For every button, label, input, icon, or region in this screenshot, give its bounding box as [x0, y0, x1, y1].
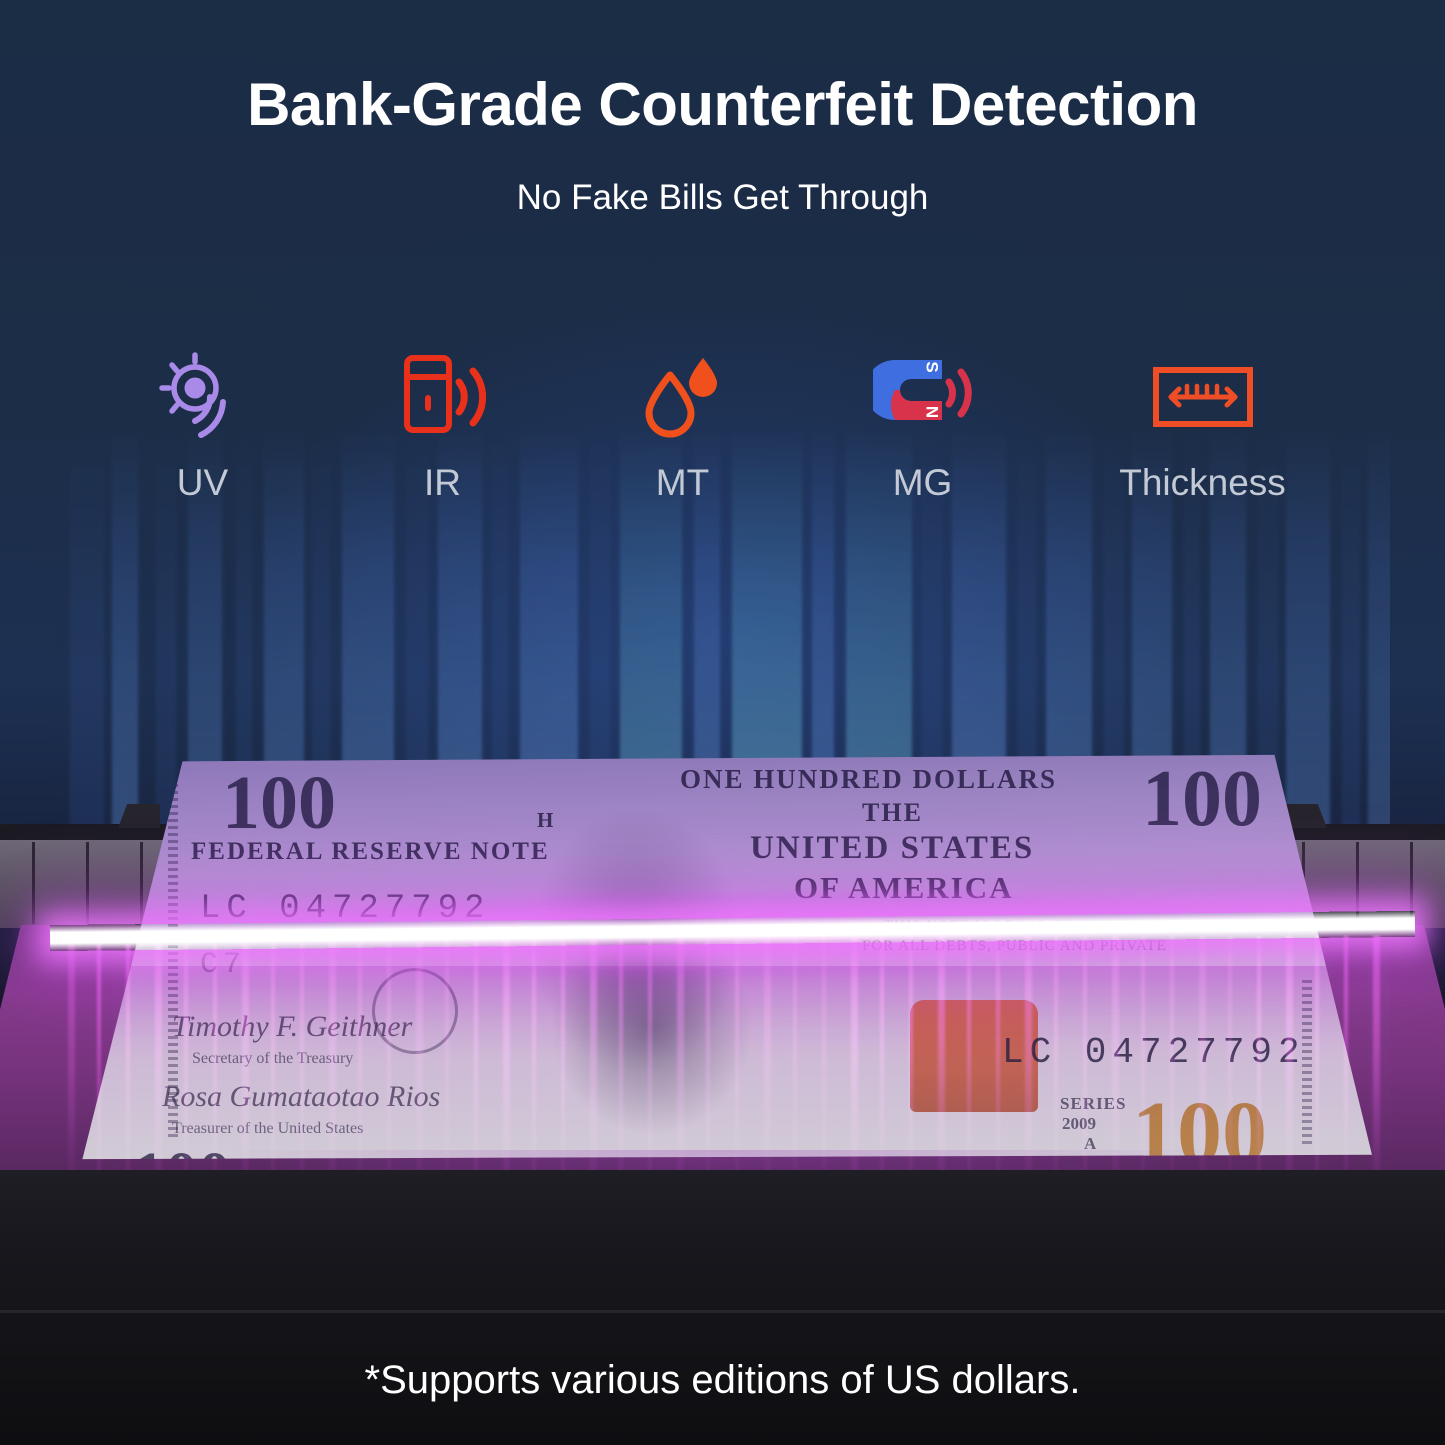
- banknote: 100 FEDERAL RESERVE NOTE H LC 04727792 C…: [72, 742, 1372, 1172]
- feature-label-thickness: Thickness: [1088, 462, 1318, 504]
- magnet-south-pole-label: S: [922, 361, 941, 372]
- page-title: Bank-Grade Counterfeit Detection: [0, 70, 1445, 139]
- feature-label-ir: IR: [368, 462, 518, 504]
- promo-banner: 100 FEDERAL RESERVE NOTE H LC 04727792 C…: [0, 0, 1445, 1445]
- uv-sun-icon: [128, 348, 278, 448]
- feature-mt: MT: [608, 348, 758, 504]
- magnet-north-pole-label: N: [922, 406, 941, 418]
- machine-base: [0, 1170, 1445, 1445]
- feature-thickness: Thickness: [1088, 348, 1318, 504]
- page-subtitle: No Fake Bills Get Through: [0, 178, 1445, 218]
- feature-label-mg: MG: [848, 462, 998, 504]
- banknote-face: 100 FEDERAL RESERVE NOTE H LC 04727792 C…: [72, 742, 1372, 1172]
- detection-feature-list: UV IR MT: [0, 348, 1445, 504]
- feature-ir: IR: [368, 348, 518, 504]
- footnote-text: *Supports various editions of US dollars…: [0, 1358, 1445, 1403]
- feature-mg: S N MG: [848, 348, 998, 504]
- magnetic-drops-icon: [608, 348, 758, 448]
- ir-sensor-icon: [368, 348, 518, 448]
- feature-uv: UV: [128, 348, 278, 504]
- feature-label-mt: MT: [608, 462, 758, 504]
- thickness-ruler-icon: [1088, 348, 1318, 448]
- horseshoe-magnet-icon: S N: [848, 348, 998, 448]
- feature-label-uv: UV: [128, 462, 278, 504]
